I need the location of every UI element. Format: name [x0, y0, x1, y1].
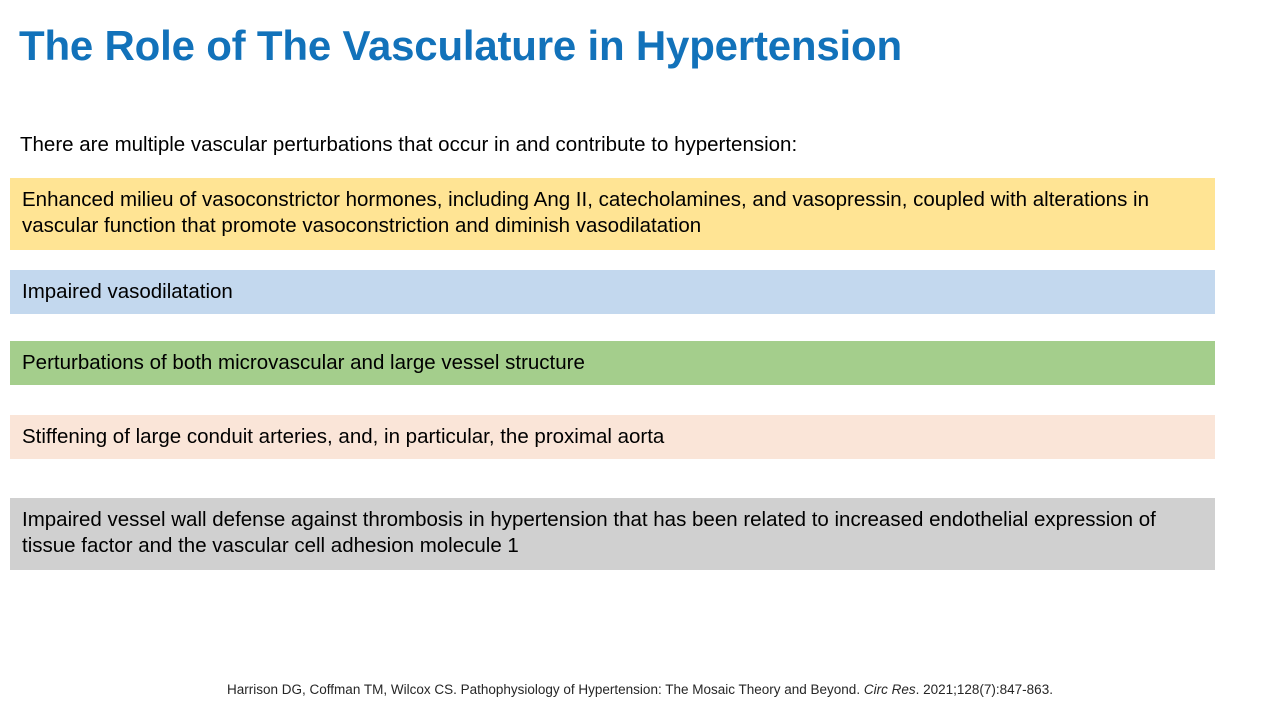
citation: Harrison DG, Coffman TM, Wilcox CS. Path… — [0, 681, 1280, 699]
list-item: Perturbations of both microvascular and … — [10, 341, 1215, 385]
bar-gap — [10, 385, 1215, 415]
citation-volume-pages: . 2021;128(7):847-863. — [916, 682, 1053, 697]
list-item-label: Enhanced milieu of vasoconstrictor hormo… — [22, 187, 1204, 239]
bar-gap — [10, 459, 1215, 498]
list-item: Impaired vasodilatation — [10, 270, 1215, 314]
bar-gap — [10, 250, 1215, 270]
list-item-label: Perturbations of both microvascular and … — [22, 350, 1204, 376]
list-item: Enhanced milieu of vasoconstrictor hormo… — [10, 178, 1215, 250]
bar-gap — [10, 314, 1215, 341]
page-title: The Role of The Vasculature in Hypertens… — [19, 19, 1219, 73]
citation-journal: Circ Res — [864, 682, 916, 697]
list-item: Impaired vessel wall defense against thr… — [10, 498, 1215, 570]
slide-canvas: The Role of The Vasculature in Hypertens… — [0, 0, 1280, 720]
lead-paragraph: There are multiple vascular perturbation… — [20, 131, 1200, 159]
citation-authors-title: Harrison DG, Coffman TM, Wilcox CS. Path… — [227, 682, 864, 697]
list-item-label: Stiffening of large conduit arteries, an… — [22, 424, 1204, 450]
perturbation-bar-list: Enhanced milieu of vasoconstrictor hormo… — [10, 178, 1215, 570]
list-item-label: Impaired vasodilatation — [22, 279, 1204, 305]
list-item: Stiffening of large conduit arteries, an… — [10, 415, 1215, 459]
list-item-label: Impaired vessel wall defense against thr… — [22, 507, 1204, 559]
